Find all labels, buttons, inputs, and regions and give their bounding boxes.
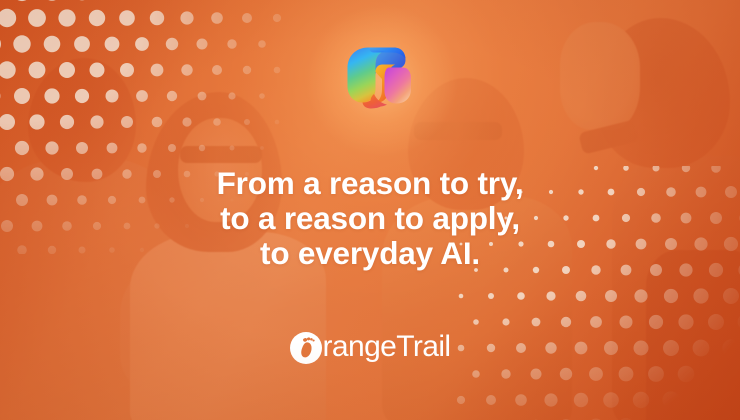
headline: From a reason to try, to a reason to app… (0, 166, 740, 271)
marketing-banner: From a reason to try, to a reason to app… (0, 0, 740, 420)
headline-line-1: From a reason to try, (0, 166, 740, 201)
brand-lockup: rangeTrail (0, 332, 740, 364)
copilot-ribbon-icon (338, 38, 414, 112)
headline-line-3: to everyday AI. (0, 236, 740, 271)
brand-name: rangeTrail (323, 331, 451, 363)
headline-line-2: to a reason to apply, (0, 201, 740, 236)
footprint-icon (290, 332, 322, 364)
